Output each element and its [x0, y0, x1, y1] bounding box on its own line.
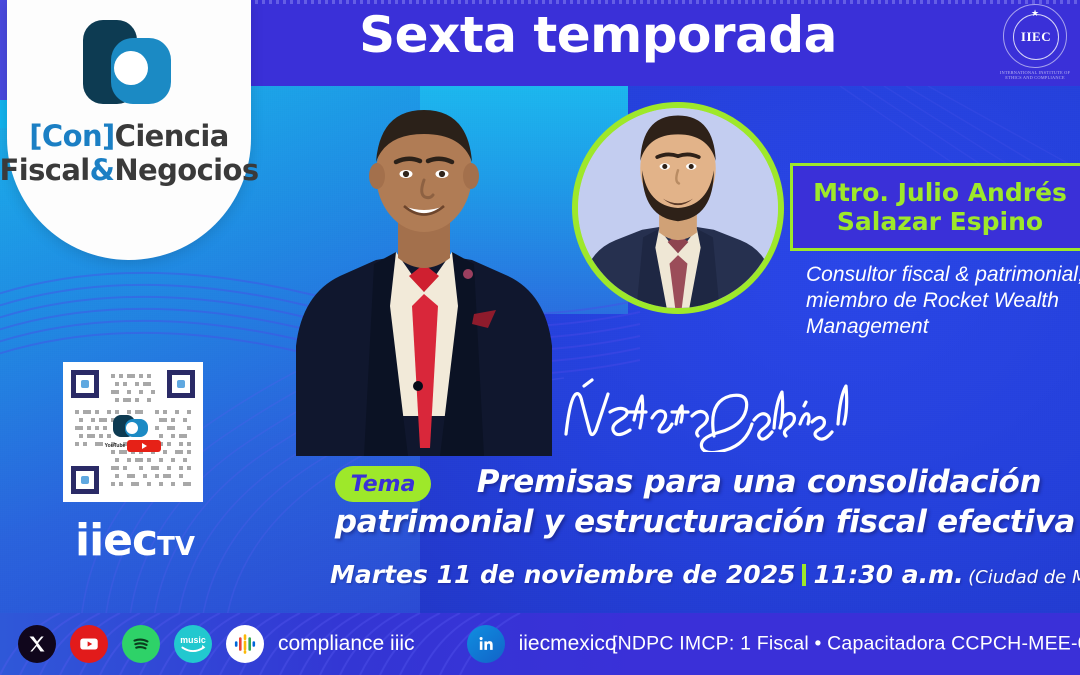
spotify-icon[interactable]	[122, 625, 160, 663]
host-photo	[278, 96, 568, 456]
brand-line-2: Fiscal&Negocios	[0, 156, 258, 185]
iiec-seal: ★ IIEC INTERNATIONAL INSTITUTE OF ETHICS…	[998, 4, 1072, 84]
brand-con: [Con]	[29, 119, 114, 153]
topic-line-1: Premisas para una consolidación	[330, 462, 1080, 502]
topic-line-2: patrimonial y estructuración fiscal efec…	[330, 502, 1080, 542]
channel-name: iiec	[75, 515, 157, 566]
speaker-role-line2: miembro de Rocket Wealth	[806, 289, 1059, 312]
topic-badge-label: Tema	[351, 472, 416, 497]
brand-mark-small-icon	[113, 413, 153, 439]
qr-youtube-label: YouTube	[105, 443, 126, 449]
page-title: Sexta temporada	[248, 6, 948, 64]
speaker-name-box: Mtro. Julio Andrés Salazar Espino	[790, 163, 1080, 251]
promo-poster: Sexta temporada ★ IIEC INTERNATIONAL INS…	[0, 0, 1080, 675]
youtube-icon[interactable]	[70, 625, 108, 663]
header-banner: Sexta temporada ★ IIEC INTERNATIONAL INS…	[248, 0, 1080, 86]
brand-mark-icon	[77, 16, 181, 108]
google-podcasts-icon[interactable]	[226, 625, 264, 663]
brand-line-1: [Con]Ciencia	[29, 122, 228, 151]
host-signature	[556, 372, 856, 452]
qr-finder-top-left	[71, 370, 99, 398]
schedule-line: Martes 11 de noviembre de 202511:30 a.m.…	[330, 560, 1050, 589]
schedule-date: Martes 11 de noviembre de 2025	[330, 560, 795, 589]
brand-ciencia: Ciencia	[115, 119, 229, 153]
speaker-role-line1: Consultor fiscal & patrimonial,	[806, 263, 1080, 286]
qr-finder-bottom-left	[71, 466, 99, 494]
speaker-name-line1: Mtro. Julio Andrés	[813, 178, 1067, 207]
seal-inner-ring: IIEC	[1013, 14, 1059, 60]
svg-text:music: music	[180, 635, 206, 645]
speaker-name: Mtro. Julio Andrés Salazar Espino	[803, 178, 1077, 236]
brand-logo-card: [Con]Ciencia Fiscal&Negocios	[7, 0, 251, 260]
brand-fiscal: Fiscal	[0, 153, 90, 187]
speaker-name-line2: Salazar Espino	[837, 207, 1043, 236]
social-links: music compl	[0, 625, 617, 663]
youtube-icon-small	[127, 440, 161, 452]
left-edge-strip-cyan	[0, 100, 7, 128]
qr-center-logo: YouTube	[113, 412, 153, 452]
topic-text: Premisas para una consolidación patrimon…	[330, 462, 1080, 542]
schedule-city: (Ciudad de México)	[968, 567, 1080, 588]
amazon-music-icon[interactable]: music	[174, 625, 212, 663]
linkedin-icon[interactable]	[467, 625, 505, 663]
channel-logo: iiecTV	[55, 515, 215, 566]
qr-finder-top-right	[167, 370, 195, 398]
podcast-handle[interactable]: compliance iiic	[278, 632, 415, 656]
qr-code[interactable]: YouTube	[63, 362, 203, 502]
speaker-role: Consultor fiscal & patrimonial, miembro …	[806, 262, 1080, 340]
footer-credit-note: [NDPC IMCP: 1 Fiscal • Capacitadora CCPC…	[612, 633, 1080, 656]
topic-badge: Tema	[335, 466, 431, 502]
brand-negocios: Negocios	[114, 153, 258, 187]
seal-outer-ring: ★ IIEC	[1003, 4, 1067, 68]
brand-ampersand: &	[90, 153, 115, 187]
speaker-photo	[572, 102, 784, 314]
left-edge-strip	[0, 0, 7, 100]
speaker-role-line3: Management	[806, 315, 929, 338]
schedule-separator	[802, 564, 806, 586]
header-dot-rule	[248, 0, 1080, 4]
seal-abbr: IIEC	[1021, 29, 1051, 45]
seal-caption: INTERNATIONAL INSTITUTE OF ETHICS AND CO…	[998, 70, 1072, 81]
channel-suffix: TV	[157, 532, 195, 562]
footer-bar: music compl	[0, 613, 1080, 675]
x-twitter-icon[interactable]	[18, 625, 56, 663]
qr-canvas: YouTube	[71, 370, 195, 494]
schedule-time: 11:30 a.m.	[813, 560, 963, 589]
linkedin-handle[interactable]: iiecmexico	[519, 632, 617, 656]
